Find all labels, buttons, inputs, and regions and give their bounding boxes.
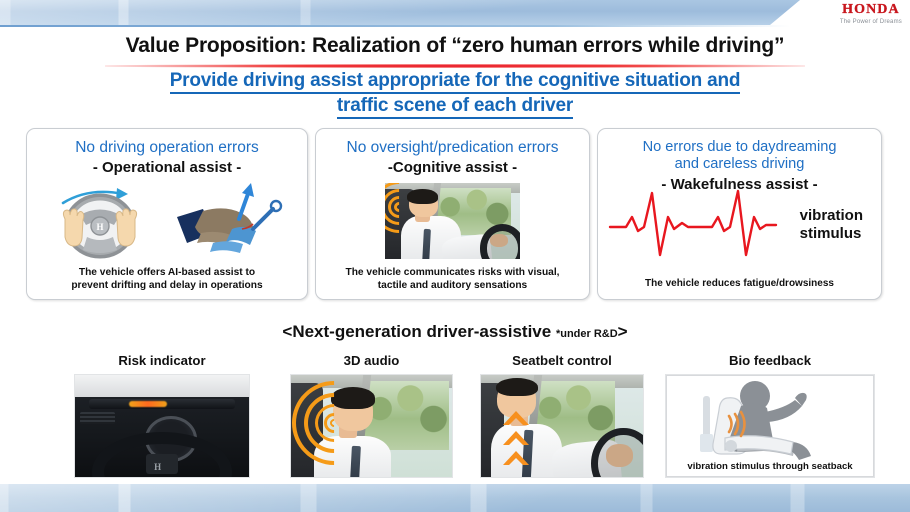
card-subheading: - Operational assist - [27,159,307,176]
section-title: <Next-generation driver-assistive *under… [0,322,910,342]
tile-bio-feedback[interactable]: Bio feedback [665,352,875,478]
card-operational-assist[interactable]: No driving operation errors - Operationa… [26,128,308,300]
tile-3d-audio[interactable]: 3D audio [290,352,453,478]
card-footer: The vehicle communicates risks with visu… [316,267,589,292]
slide: HONDA The Power of Dreams Value Proposit… [0,0,910,512]
card-cognitive-assist[interactable]: No oversight/predication errors -Cogniti… [315,128,590,300]
driver-photo-with-orange-sound-rings [290,374,453,478]
card-heading: No driving operation errors [27,129,307,156]
card-heading-line-1: No errors due to daydreaming [643,139,837,155]
section-title-open: <Next-generation driver-assistive [282,322,551,341]
subtitle-line-2: traffic scene of each driver [337,95,573,119]
subtitle-line-1: Provide driving assist appropriate for t… [170,70,741,94]
card-footer-line-1: The vehicle reduces fatigue/drowsiness [598,278,881,291]
driver-photo-with-sound-waves [316,183,589,259]
card-subheading: -Cognitive assist - [316,159,589,176]
driver-photo-with-orange-seatbelt-arrows [480,374,644,478]
annotation-line-2: stimulus [800,225,863,243]
dashboard-photo-with-amber-indicator: H [74,374,250,478]
honda-tagline: The Power of Dreams [840,19,902,25]
tile-label: Risk indicator [74,352,250,372]
annotation-line-1: vibration [800,207,863,225]
section-title-close: > [618,322,628,341]
page-subtitle: Provide driving assist appropriate for t… [0,68,910,118]
honda-wordmark: HONDA [840,3,902,17]
bio-feedback-caption: vibration stimulus through seatback [667,461,873,472]
header-underline [0,25,790,27]
card-heading-line-2: and careless driving [675,156,805,172]
honda-logo: HONDA The Power of Dreams [840,3,902,25]
card-footer-line-2: prevent drifting and delay in operations [27,280,307,293]
page-title: Value Proposition: Realization of “zero … [0,34,910,58]
vibration-stimulus-annotation: vibration stimulus [800,207,863,243]
svg-text:H: H [96,222,103,232]
seatbelt-arrow-icon [501,409,531,473]
card-footer-line-1: The vehicle communicates risks with visu… [316,267,589,280]
card-footer-line-2: tactile and auditory sensations [316,280,589,293]
tile-seatbelt-control[interactable]: Seatbelt control [480,352,644,478]
tile-label: 3D audio [290,352,453,372]
tile-risk-indicator[interactable]: Risk indicator H [74,352,250,478]
header-blue-gradient [0,0,800,25]
steering-wheel-and-pedal-illustration: H [27,181,307,261]
card-footer: The vehicle reduces fatigue/drowsiness [598,278,881,291]
card-footer-line-1: The vehicle offers AI-based assist to [27,267,307,280]
seated-figure-illustration: vibration stimulus through seatback [665,374,875,478]
tile-label: Bio feedback [665,352,875,372]
section-title-note: *under R&D [556,328,618,340]
tile-label: Seatbelt control [480,352,644,372]
footer-band [0,484,910,512]
card-footer: The vehicle offers AI-based assist to pr… [27,267,307,292]
header-band [0,0,910,25]
card-wakefulness-assist[interactable]: No errors due to daydreaming and careles… [597,128,882,300]
card-heading: No errors due to daydreaming and careles… [598,129,881,173]
card-heading: No oversight/predication errors [316,129,589,156]
